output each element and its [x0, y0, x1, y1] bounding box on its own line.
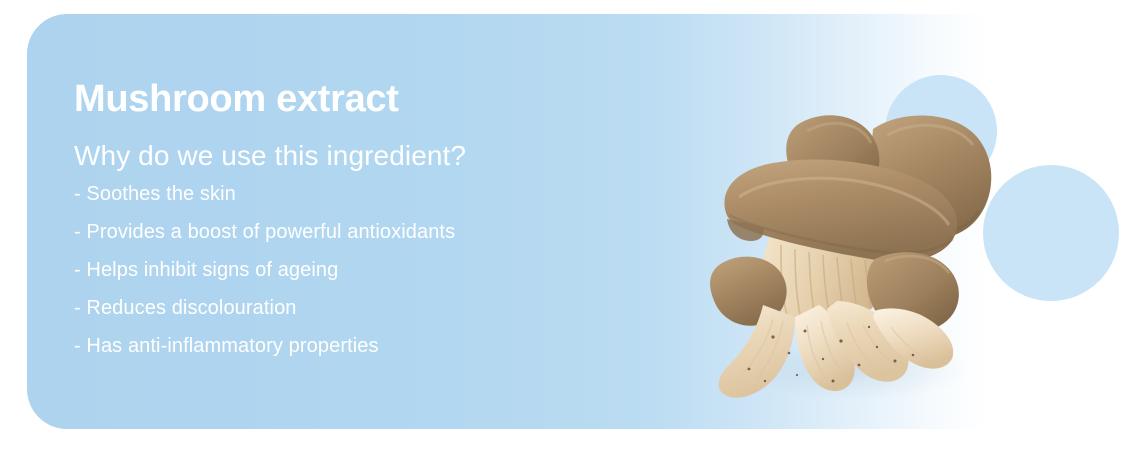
subtitle: Why do we use this ingredient? — [74, 121, 634, 173]
list-item: - Helps inhibit signs of ageing — [74, 260, 634, 298]
list-item: - Has anti-inflammatory properties — [74, 336, 634, 374]
mushroom-photo — [677, 69, 1037, 409]
page-title: Mushroom extract — [74, 78, 634, 121]
list-item: - Reduces discolouration — [74, 298, 634, 336]
text-column: Mushroom extract Why do we use this ingr… — [74, 78, 634, 374]
list-item: - Soothes the skin — [74, 184, 634, 222]
ingredient-info-banner: Mushroom extract Why do we use this ingr… — [0, 0, 1125, 450]
benefit-list: - Soothes the skin - Provides a boost of… — [74, 172, 634, 374]
list-item: - Provides a boost of powerful antioxida… — [74, 222, 634, 260]
ingredient-card: Mushroom extract Why do we use this ingr… — [27, 14, 1125, 429]
